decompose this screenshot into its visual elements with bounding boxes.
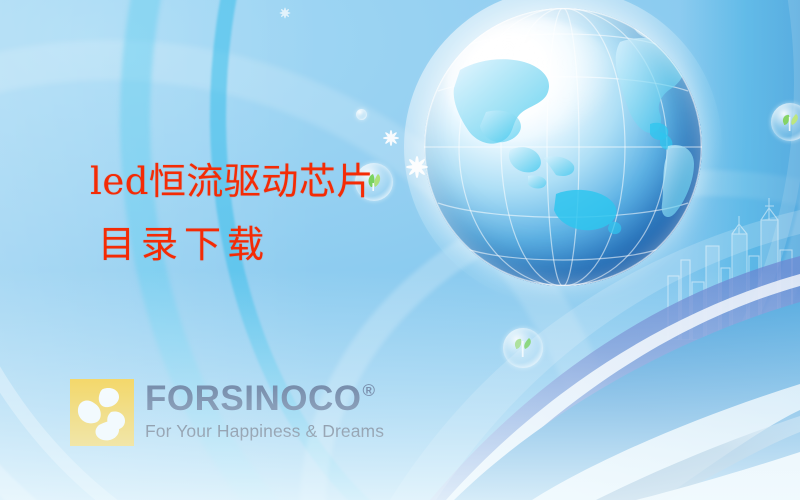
logo-brand-row: FORSINOCO ®	[145, 381, 384, 416]
headline-line-2: 目录下载	[98, 226, 374, 263]
headline-line-1: led恒流驱动芯片	[90, 163, 374, 200]
logo-text-block: FORSINOCO ® For Your Happiness & Dreams	[145, 379, 384, 442]
logo-tagline: For Your Happiness & Dreams	[145, 421, 384, 442]
pinwheel-flower-icon	[70, 379, 134, 446]
eco-bubble-icon-2	[503, 328, 543, 368]
sparkle-flower-icon-3	[276, 4, 294, 22]
eco-bubble-icon-3	[771, 103, 800, 141]
company-logo: FORSINOCO ® For Your Happiness & Dreams	[70, 379, 384, 446]
logo-brand-name: FORSINOCO	[145, 381, 361, 416]
sparkle-flower-icon-2	[400, 150, 434, 184]
promo-banner: led恒流驱动芯片 目录下载 FORSINOCO ® For Your Happ…	[0, 0, 800, 500]
eco-bubble-icon-4	[356, 109, 367, 120]
headline: led恒流驱动芯片 目录下载	[90, 163, 374, 263]
registered-trademark-icon: ®	[362, 382, 375, 399]
sparkle-flower-icon-1	[379, 126, 403, 150]
